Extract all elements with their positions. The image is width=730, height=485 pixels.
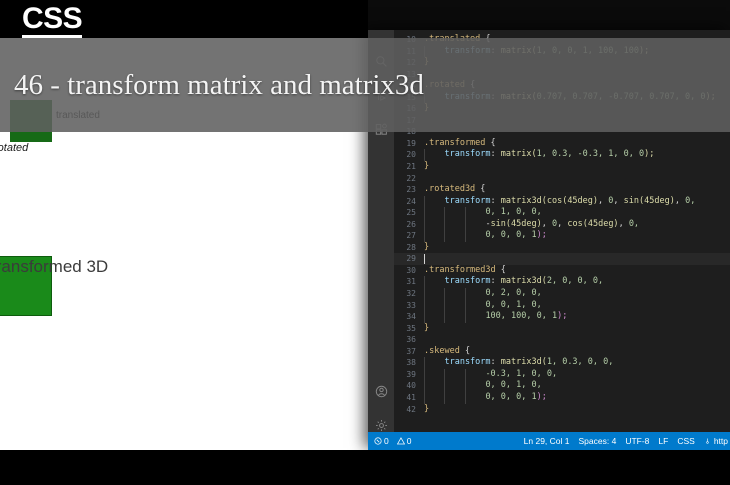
indent-guide <box>465 300 466 312</box>
line-number: 40 <box>394 380 416 392</box>
code-text: } <box>424 161 429 173</box>
indent-guide <box>465 311 466 323</box>
code-text: transform: matrix(1, 0.3, -0.3, 1, 0, 0)… <box>444 149 654 161</box>
error-count-value: 0 <box>384 436 389 446</box>
code-token: 0, <box>685 196 695 206</box>
code-line[interactable]: 34100, 100, 0, 1); <box>394 311 730 323</box>
code-line[interactable]: 22 <box>394 173 730 185</box>
lesson-title: 46 - transform matrix and matrix3d <box>0 68 424 102</box>
code-text: transform: matrix3d(cos(45deg), 0, sin(4… <box>444 196 695 208</box>
line-number: 22 <box>394 173 416 185</box>
indent-guide <box>444 380 445 392</box>
broadcast-icon <box>704 437 712 445</box>
code-line[interactable]: 38transform: matrix3d(1, 0.3, 0, 0, <box>394 357 730 369</box>
indent-guide <box>465 392 466 404</box>
code-token: } <box>424 242 429 252</box>
code-token: 0, <box>629 219 639 229</box>
code-text: 0, 0, 0, 1); <box>485 230 546 242</box>
code-text: 100, 100, 0, 1); <box>485 311 567 323</box>
line-number: 21 <box>394 161 416 173</box>
code-line[interactable]: 19.transformed { <box>394 138 730 150</box>
code-line[interactable]: 270, 0, 0, 1); <box>394 230 730 242</box>
code-line[interactable]: 23.rotated3d { <box>394 184 730 196</box>
code-token: .rotated3d <box>424 184 475 194</box>
indent-guide <box>444 288 445 300</box>
line-number: 28 <box>394 242 416 254</box>
code-text: 0, 1, 0, 0, <box>485 207 541 219</box>
code-line[interactable]: 37.skewed { <box>394 346 730 358</box>
code-token: 0, 0, 1, 0, <box>485 300 541 310</box>
code-token: , <box>619 219 629 229</box>
line-number: 41 <box>394 392 416 404</box>
site-brand-css: CSS <box>22 4 82 39</box>
code-token: transform <box>444 276 490 286</box>
account-icon[interactable] <box>368 374 394 408</box>
indent-guide <box>465 288 466 300</box>
line-number: 27 <box>394 230 416 242</box>
indent-guide <box>424 230 425 242</box>
line-number: 23 <box>394 184 416 196</box>
indent-guide <box>444 311 445 323</box>
live-server-status[interactable]: http <box>704 436 728 446</box>
code-line[interactable]: 410, 0, 0, 1); <box>394 392 730 404</box>
code-line[interactable]: 21} <box>394 161 730 173</box>
eol-setting[interactable]: LF <box>658 436 668 446</box>
indent-guide <box>444 219 445 231</box>
code-token: { <box>485 138 495 148</box>
line-number: 38 <box>394 357 416 369</box>
line-number: 36 <box>394 334 416 346</box>
code-token: sin(45deg) <box>491 219 542 229</box>
code-text: .transformed { <box>424 138 496 150</box>
code-token: { <box>460 346 470 356</box>
code-text: 0, 0, 1, 0, <box>485 380 541 392</box>
line-number: 39 <box>394 369 416 381</box>
code-token: } <box>424 323 429 333</box>
code-token: 0, 1, 0, 0, <box>485 207 541 217</box>
code-line[interactable]: 250, 1, 0, 0, <box>394 207 730 219</box>
title-overlay-band: 46 - transform matrix and matrix3d <box>0 38 730 132</box>
code-token: ); <box>644 149 654 159</box>
indent-guide <box>465 380 466 392</box>
indent-guide <box>424 196 425 208</box>
code-token: transform <box>444 149 490 159</box>
code-token: .transformed3d <box>424 265 496 275</box>
code-token: ); <box>537 230 547 240</box>
code-token: matrix3d( <box>501 276 547 286</box>
indent-guide <box>424 311 425 323</box>
code-token: cos(45deg) <box>547 196 598 206</box>
code-token: , <box>542 219 552 229</box>
code-token: .transformed <box>424 138 485 148</box>
error-count[interactable]: 0 <box>374 436 389 446</box>
code-line[interactable]: 39-0.3, 1, 0, 0, <box>394 369 730 381</box>
code-token: , <box>598 196 608 206</box>
line-number: 19 <box>394 138 416 150</box>
code-token: , <box>613 196 623 206</box>
code-line[interactable]: 26-sin(45deg), 0, cos(45deg), 0, <box>394 219 730 231</box>
code-line[interactable]: 36 <box>394 334 730 346</box>
code-text: .rotated3d { <box>424 184 485 196</box>
code-token: ); <box>537 392 547 402</box>
indent-guide <box>424 207 425 219</box>
code-text: 0, 2, 0, 0, <box>485 288 541 300</box>
line-number: 30 <box>394 265 416 277</box>
language-mode[interactable]: CSS <box>677 436 694 446</box>
code-token: -0.3, 1, 0, 0, <box>485 369 557 379</box>
code-line[interactable]: 400, 0, 1, 0, <box>394 380 730 392</box>
code-text: -sin(45deg), 0, cos(45deg), 0, <box>485 219 639 231</box>
code-token: : <box>491 357 501 367</box>
screenshot-root: CSS translated rotated Transformed 3D <box>0 0 730 485</box>
indent-guide <box>444 230 445 242</box>
indent-guide <box>465 230 466 242</box>
code-line[interactable]: 31transform: matrix3d(2, 0, 0, 0, <box>394 276 730 288</box>
code-line[interactable]: 28} <box>394 242 730 254</box>
line-number: 42 <box>394 404 416 416</box>
code-line[interactable]: 330, 0, 1, 0, <box>394 300 730 312</box>
code-token: : <box>491 276 501 286</box>
code-line[interactable]: 24transform: matrix3d(cos(45deg), 0, sin… <box>394 196 730 208</box>
editor-bottom-shade <box>368 450 730 485</box>
indent-guide <box>424 288 425 300</box>
code-line[interactable]: 30.transformed3d { <box>394 265 730 277</box>
warning-triangle-icon <box>397 437 405 445</box>
text-cursor <box>424 254 425 264</box>
line-number: 29 <box>394 253 416 265</box>
code-token: , <box>675 196 685 206</box>
code-text: } <box>424 323 429 335</box>
demo-label-rotated: rotated <box>0 142 28 154</box>
warning-count-value: 0 <box>407 436 412 446</box>
code-text: -0.3, 1, 0, 0, <box>485 369 557 381</box>
line-number: 31 <box>394 276 416 288</box>
code-token: { <box>475 184 485 194</box>
encoding-setting[interactable]: UTF-8 <box>625 436 649 446</box>
indent-guide <box>465 207 466 219</box>
live-server-label: http <box>714 436 728 446</box>
code-token: transform <box>444 196 490 206</box>
line-number: 35 <box>394 323 416 335</box>
line-number: 25 <box>394 207 416 219</box>
indent-guide <box>444 392 445 404</box>
code-token: 0, 0, 0, <box>485 230 531 240</box>
code-text: 0, 0, 0, 1); <box>485 392 546 404</box>
code-token: 0, 0, 0, 1 <box>485 392 536 402</box>
indent-guide <box>424 380 425 392</box>
code-token: matrix3d( <box>501 196 547 206</box>
line-number: 37 <box>394 346 416 358</box>
line-number: 34 <box>394 311 416 323</box>
line-number: 32 <box>394 288 416 300</box>
code-token: sin(45deg) <box>624 196 675 206</box>
line-number: 33 <box>394 300 416 312</box>
code-token: 2, 0, 0, 0, <box>547 276 603 286</box>
indent-guide <box>424 219 425 231</box>
indent-guide <box>424 276 425 288</box>
code-token: .skewed <box>424 346 460 356</box>
indent-guide <box>424 300 425 312</box>
indentation-setting[interactable]: Spaces: 4 <box>579 436 617 446</box>
indent-guide <box>444 300 445 312</box>
status-bar-right[interactable]: Ln 29, Col 1 Spaces: 4 UTF-8 LF CSS http <box>524 436 728 446</box>
code-token: { <box>496 265 506 275</box>
indent-guide <box>424 369 425 381</box>
demo-label-transformed3d: Transformed 3D <box>0 256 126 277</box>
status-bar[interactable]: 0 0 Ln 29, Col 1 Spaces: 4 UTF-8 LF CSS <box>368 432 730 450</box>
code-token: } <box>424 161 429 171</box>
code-token: : <box>491 196 501 206</box>
code-text: } <box>424 242 429 254</box>
code-text: transform: matrix3d(1, 0.3, 0, 0, <box>444 357 613 369</box>
cursor-position[interactable]: Ln 29, Col 1 <box>524 436 570 446</box>
warning-count[interactable]: 0 <box>397 436 412 446</box>
code-line[interactable]: 29 <box>394 253 730 265</box>
code-text: .transformed3d { <box>424 265 506 277</box>
code-text: 0, 0, 1, 0, <box>485 300 541 312</box>
code-line[interactable]: 320, 2, 0, 0, <box>394 288 730 300</box>
indent-guide <box>424 149 425 161</box>
code-line[interactable]: 35} <box>394 323 730 335</box>
page-bottom-letterbox <box>0 450 368 485</box>
code-token: 100, 100, 0, 1 <box>485 311 557 321</box>
code-token: 0, 2, 0, 0, <box>485 288 541 298</box>
code-token: 1, 0.3, 0, 0, <box>547 357 614 367</box>
code-line[interactable]: 42} <box>394 404 730 416</box>
code-text: .skewed { <box>424 346 470 358</box>
editor-top-shade <box>368 0 730 30</box>
line-number: 20 <box>394 149 416 161</box>
indent-guide <box>465 219 466 231</box>
code-token: ); <box>557 311 567 321</box>
indent-guide <box>444 369 445 381</box>
indent-guide <box>465 369 466 381</box>
code-token: transform <box>444 357 490 367</box>
indent-guide <box>424 357 425 369</box>
code-token: 0, 0, 1, 0, <box>485 380 541 390</box>
code-token: } <box>424 404 429 414</box>
indent-guide <box>424 392 425 404</box>
code-text: transform: matrix3d(2, 0, 0, 0, <box>444 276 603 288</box>
status-bar-left[interactable]: 0 0 <box>374 436 411 446</box>
code-token: matrix( <box>501 149 537 159</box>
indent-guide <box>444 207 445 219</box>
code-token: matrix3d( <box>501 357 547 367</box>
code-token: 1, 0.3, -0.3, 1, 0, 0 <box>537 149 644 159</box>
code-text: } <box>424 404 429 416</box>
code-line[interactable]: 20transform: matrix(1, 0.3, -0.3, 1, 0, … <box>394 149 730 161</box>
line-number: 24 <box>394 196 416 208</box>
code-token: : <box>491 149 501 159</box>
line-number: 26 <box>394 219 416 231</box>
code-token: cos(45deg) <box>567 219 618 229</box>
error-circle-icon <box>374 437 382 445</box>
code-token: , <box>557 219 567 229</box>
